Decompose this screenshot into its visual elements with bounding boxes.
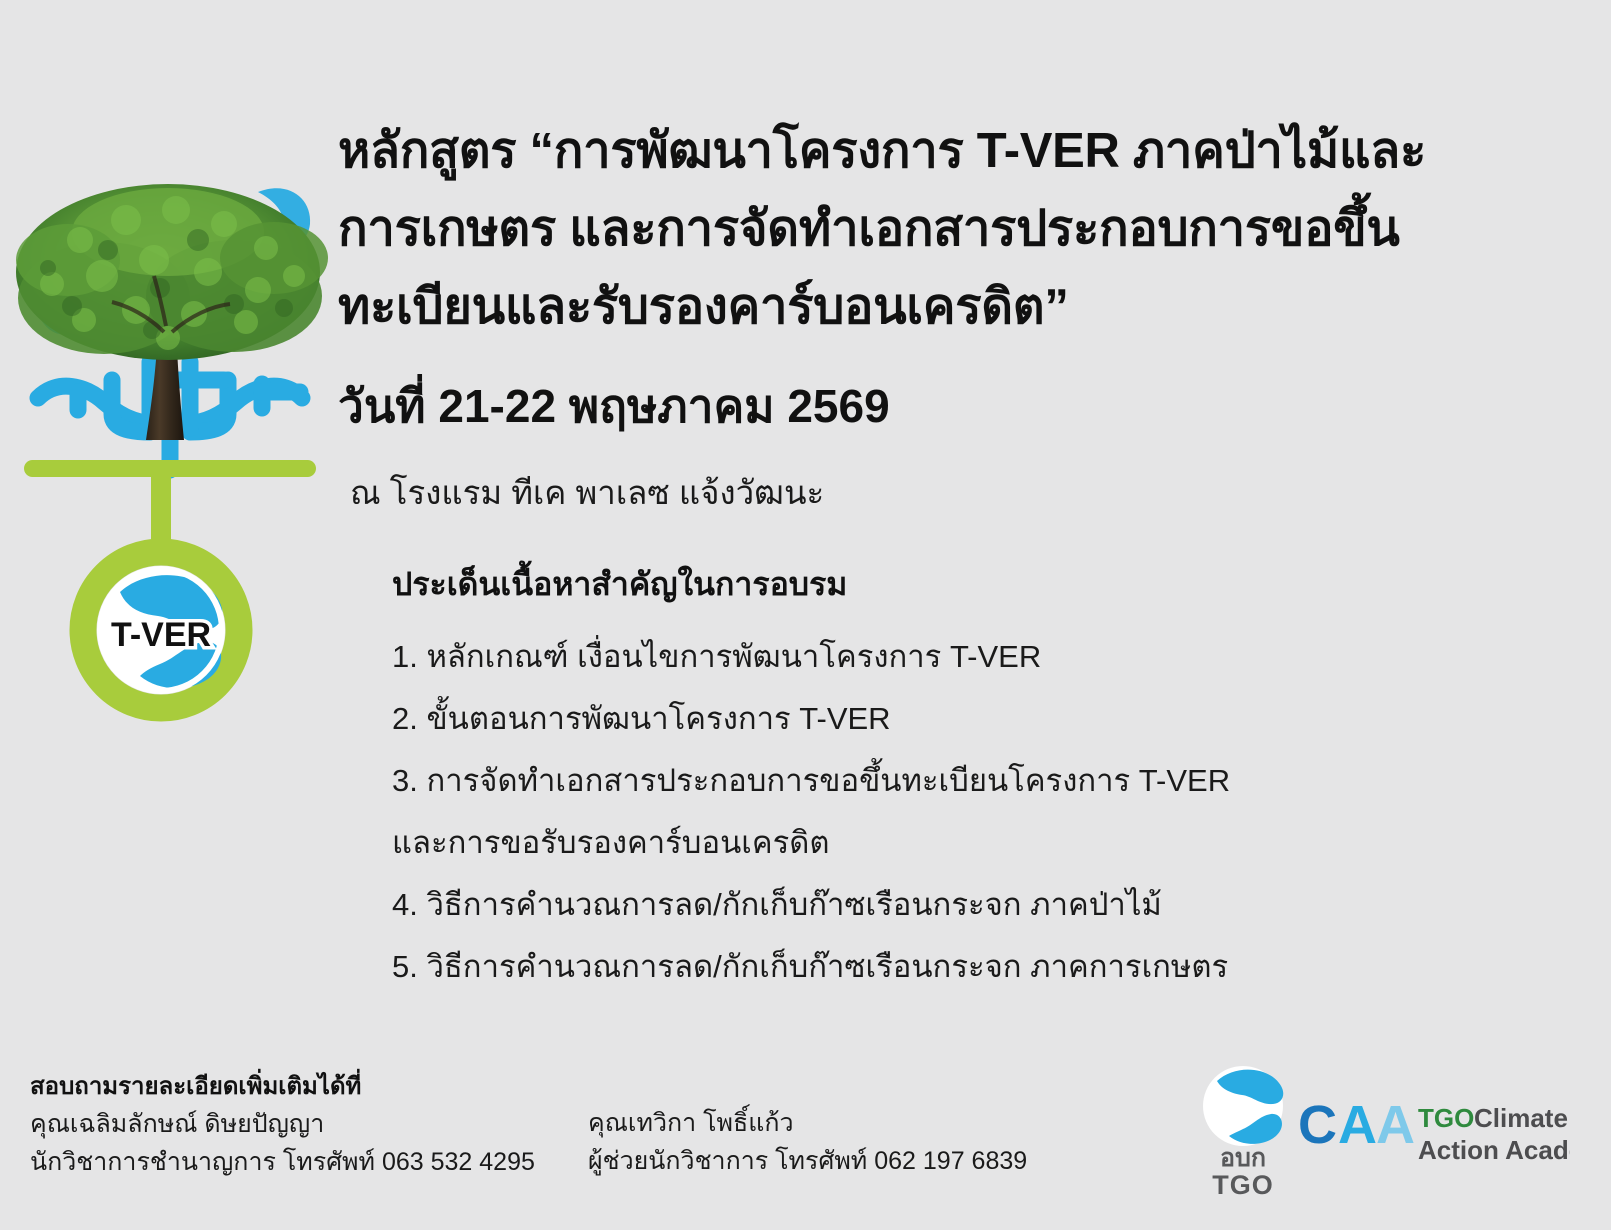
caa-letter-a2: A [1376,1095,1415,1155]
contact-1-role-phone: นักวิชาการชำนาญการ โทรศัพท์ 063 532 4295 [30,1143,535,1181]
contact-2-role-phone: ผู้ช่วยนักวิชาการ โทรศัพท์ 062 197 6839 [588,1142,1027,1180]
caa-letter-c: C [1298,1095,1337,1155]
tgo-logo: อบก TGO อบก TGO [1200,1058,1286,1203]
footer-logo-group: อบก TGO อบก TGO C A A TGO Climate Action… [1200,1058,1570,1203]
tgo-latin-text: TGO [1286,1058,1287,1059]
contact-1-name: คุณเฉลิมลักษณ์ ดิษยปัญญา [30,1105,535,1143]
caa-tgo-text: TGO [1570,1091,1571,1092]
caa-mark-graphic: C A A TGO Climate Action Academy [1298,1091,1570,1171]
tgo-thai-label: อบก [1220,1144,1266,1172]
topics-heading: ประเด็นเนื้อหาสำคัญในการอบรม [392,556,1542,612]
title-line-3: ทะเบียนและรับรองคาร์บอนเครดิต” [338,268,1518,346]
topics-section: ประเด็นเนื้อหาสำคัญในการอบรม 1. หลักเกณฑ… [392,556,1542,998]
enquiry-heading: สอบถามรายละเอียดเพิ่มเติมได้ที่ [30,1068,535,1105]
topic-item-3: 3. การจัดทำเอกสารประกอบการขอขึ้นทะเบียนโ… [392,750,1542,812]
poster-canvas: T-VER T-VER หลักสูตร “การพัฒนาโครงการ T-… [0,0,1611,1230]
poster-title: หลักสูตร “การพัฒนาโครงการ T-VER ภาคป่าไม… [338,112,1518,346]
tver-tree-illustration: T-VER T-VER [0,170,340,760]
tgo-thai-text: อบก [1286,1058,1287,1059]
caa-line-2: Action Academy [1418,1135,1570,1165]
topic-item-1: 1. หลักเกณฑ์ เงื่อนไขการพัฒนาโครงการ T-V… [392,626,1542,688]
caa-word-climate: Climate [1474,1103,1568,1133]
topic-item-3-continued: และการขอรับรองคาร์บอนเครดิต [392,812,1542,874]
tver-badge-graphic: T-VER [0,440,340,760]
contact-2-name: คุณเทวิกา โพธิ์แก้ว [588,1104,1027,1142]
topic-item-2: 2. ขั้นตอนการพัฒนาโครงการ T-VER [392,688,1542,750]
event-date: วันที่ 21-22 พฤษภาคม 2569 [338,375,890,437]
tgo-latin-label: TGO [1212,1170,1274,1200]
contact-block-primary: สอบถามรายละเอียดเพิ่มเติมได้ที่ คุณเฉลิม… [30,1068,535,1181]
topic-item-5: 5. วิธีการคำนวณการลด/กักเก็บก๊าซเรือนกระ… [392,936,1542,998]
title-line-2: การเกษตร และการจัดทำเอกสารประกอบการขอขึ้… [338,190,1518,268]
caa-acronym-text: CAA [1570,1091,1571,1092]
caa-climate-text: Climate [1570,1091,1571,1092]
topic-item-4: 4. วิธีการคำนวณการลด/กักเก็บก๊าซเรือนกระ… [392,874,1542,936]
caa-word-tgo: TGO [1418,1103,1474,1133]
caa-letter-a1: A [1338,1095,1377,1155]
contact-block-secondary: คุณเทวิกา โพธิ์แก้ว ผู้ช่วยนักวิชาการ โท… [588,1104,1027,1180]
title-line-1: หลักสูตร “การพัฒนาโครงการ T-VER ภาคป่าไม… [338,112,1518,190]
event-venue: ณ โรงแรม ทีเค พาเลซ แจ้งวัฒนะ [350,470,824,516]
tver-badge-label: T-VER [111,616,211,654]
tgo-mark-graphic: อบก TGO [1200,1058,1286,1203]
caa-academy-text: Action Academy [1570,1091,1571,1092]
caa-logo: C A A TGO Climate Action Academy CAA TGO… [1298,1091,1570,1171]
tree-photo-graphic [8,180,338,470]
